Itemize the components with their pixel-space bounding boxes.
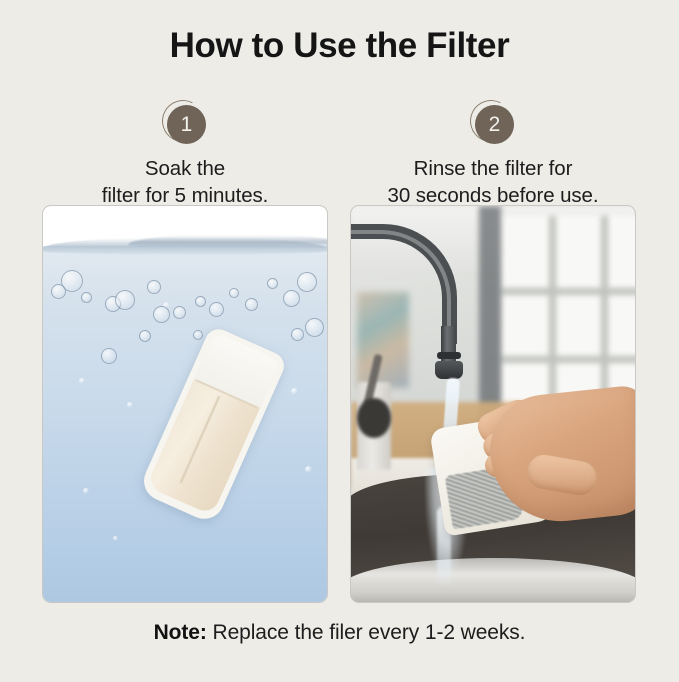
step-2-number: 2 (475, 105, 514, 144)
step-2-caption: Rinse the filter for 30 seconds before u… (388, 155, 599, 209)
step-1-badge: 1 (162, 100, 208, 146)
note-label: Note: (154, 621, 207, 644)
step-2-header: 2 Rinse the filter for 30 seconds before… (350, 100, 636, 209)
step-2-badge: 2 (470, 100, 516, 146)
bubble (51, 284, 66, 299)
instruction-card: How to Use the Filter 1 Soak the filter … (0, 0, 679, 682)
bubble (79, 378, 85, 384)
water-surface-ripple (128, 235, 328, 248)
bubble (147, 280, 161, 294)
bubble (305, 466, 312, 473)
faucet-band (437, 352, 461, 359)
step-1-caption-line1: Soak the (102, 155, 269, 182)
bubble (193, 330, 203, 340)
bubble (101, 348, 117, 364)
bubble (81, 292, 92, 303)
steps-captions-row: 1 Soak the filter for 5 minutes. 2 Rinse… (42, 100, 637, 209)
step-2-caption-line1: Rinse the filter for (388, 155, 599, 182)
step-1-header: 1 Soak the filter for 5 minutes. (42, 100, 328, 209)
faucet-aerator (435, 361, 463, 379)
bubble (291, 328, 304, 341)
bubble (283, 290, 300, 307)
step-1-caption: Soak the filter for 5 minutes. (102, 155, 269, 209)
utensil-head (357, 398, 391, 438)
bubble (245, 298, 258, 311)
steps-images-row (42, 205, 637, 603)
page-title: How to Use the Filter (0, 26, 679, 66)
bubble (115, 290, 135, 310)
bubble (127, 402, 133, 408)
bubble (153, 306, 170, 323)
window-mullion (549, 216, 556, 411)
bubble (173, 306, 186, 319)
bubble (209, 302, 224, 317)
window-mullion (601, 216, 608, 411)
bubble (83, 488, 89, 494)
bubble (267, 278, 278, 289)
note-body: Replace the filer every 1-2 weeks. (213, 621, 526, 644)
bubble (229, 288, 239, 298)
bubble (139, 330, 151, 342)
step-2-image (350, 205, 636, 603)
window (501, 216, 636, 411)
note-text: Note: Replace the filer every 1-2 weeks. (0, 621, 679, 645)
bubble (291, 388, 298, 395)
bubble (113, 536, 118, 541)
window-mullion (501, 288, 636, 295)
step-1-number: 1 (167, 105, 206, 144)
step-1-image (42, 205, 328, 603)
bubble (297, 272, 317, 292)
sink-rim (350, 558, 636, 603)
bubble (195, 296, 206, 307)
window-mullion (501, 356, 636, 363)
bubble (305, 318, 324, 337)
wall-edge (479, 206, 501, 421)
